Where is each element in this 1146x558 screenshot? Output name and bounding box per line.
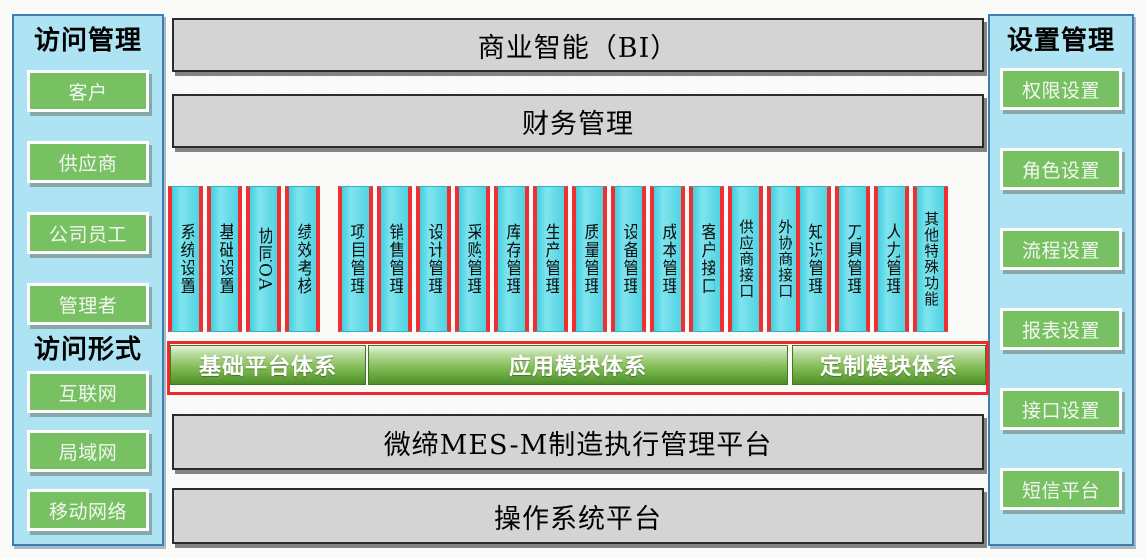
module-knowledge-management[interactable]: 知识管理 (796, 186, 831, 332)
module-customer-interface[interactable]: 客户接口 (689, 186, 724, 332)
module-hr-management[interactable]: 人力管理 (874, 186, 909, 332)
module-production-management[interactable]: 生产管理 (533, 186, 568, 332)
sidebar-item-lan[interactable]: 局域网 (27, 430, 149, 472)
sidebar-item-interface-settings[interactable]: 接口设置 (1000, 388, 1122, 430)
layer-mes-platform[interactable]: 微缔MES-M制造执行管理平台 (172, 414, 984, 470)
sidebar-item-report-settings[interactable]: 报表设置 (1000, 308, 1122, 350)
module-group-platform: 系统设置 基础设置 协同OA 绩效考核 (168, 186, 320, 336)
module-columns: 系统设置 基础设置 协同OA 绩效考核 项目管理 销售管理 设计管理 采购管理 … (168, 186, 988, 336)
settings-management-panel: 设置管理 权限设置 角色设置 流程设置 报表设置 接口设置 短信平台 (988, 14, 1134, 546)
sidebar-item-customer[interactable]: 客户 (27, 70, 149, 112)
module-group-custom: 知识管理 刀具管理 人力管理 其他特殊功能 (796, 186, 948, 336)
module-quality-management[interactable]: 质量管理 (572, 186, 607, 332)
layer-business-intelligence[interactable]: 商业智能（BI） (172, 18, 984, 72)
sidebar-item-mobile-network[interactable]: 移动网络 (27, 489, 149, 531)
access-management-panel: 访问管理 客户 供应商 公司员工 管理者 访问形式 互联网 局域网 移动网络 (12, 14, 164, 546)
module-performance-review[interactable]: 绩效考核 (285, 186, 320, 332)
module-cost-management[interactable]: 成本管理 (650, 186, 685, 332)
sidebar-item-employee[interactable]: 公司员工 (27, 212, 149, 254)
sidebar-item-role-settings[interactable]: 角色设置 (1000, 148, 1122, 190)
module-basic-settings[interactable]: 基础设置 (207, 186, 242, 332)
sidebar-item-permission-settings[interactable]: 权限设置 (1000, 68, 1122, 110)
module-sales-management[interactable]: 销售管理 (377, 186, 412, 332)
module-inventory-management[interactable]: 库存管理 (494, 186, 529, 332)
sidebar-item-manager[interactable]: 管理者 (27, 283, 149, 325)
module-other-special-functions[interactable]: 其他特殊功能 (913, 186, 948, 332)
module-supplier-interface[interactable]: 供应商接口 (728, 186, 763, 332)
sidebar-item-process-settings[interactable]: 流程设置 (1000, 228, 1122, 270)
module-system-settings[interactable]: 系统设置 (168, 186, 203, 332)
sidebar-item-supplier[interactable]: 供应商 (27, 141, 149, 183)
layer-finance-management[interactable]: 财务管理 (172, 94, 984, 148)
module-purchase-management[interactable]: 采购管理 (455, 186, 490, 332)
system-platform-foundation[interactable]: 基础平台体系 (170, 345, 366, 385)
module-collaborative-oa[interactable]: 协同OA (246, 186, 281, 332)
system-application-modules[interactable]: 应用模块体系 (368, 345, 788, 385)
sidebar-item-sms-platform[interactable]: 短信平台 (1000, 468, 1122, 510)
access-form-title: 访问形式 (14, 337, 162, 363)
system-custom-modules[interactable]: 定制模块体系 (792, 345, 986, 385)
left-panel-title: 访问管理 (14, 28, 162, 54)
diagram-canvas: 访问管理 客户 供应商 公司员工 管理者 访问形式 互联网 局域网 移动网络 设… (0, 0, 1146, 558)
right-panel-title: 设置管理 (990, 28, 1132, 54)
sidebar-item-internet[interactable]: 互联网 (27, 371, 149, 413)
module-group-application: 项目管理 销售管理 设计管理 采购管理 库存管理 生产管理 质量管理 设备管理 … (338, 186, 802, 336)
module-project-management[interactable]: 项目管理 (338, 186, 373, 332)
module-design-management[interactable]: 设计管理 (416, 186, 451, 332)
module-tooling-management[interactable]: 刀具管理 (835, 186, 870, 332)
module-equipment-management[interactable]: 设备管理 (611, 186, 646, 332)
layer-operating-system[interactable]: 操作系统平台 (172, 488, 984, 544)
system-layer-row: 基础平台体系 应用模块体系 定制模块体系 (170, 345, 986, 389)
